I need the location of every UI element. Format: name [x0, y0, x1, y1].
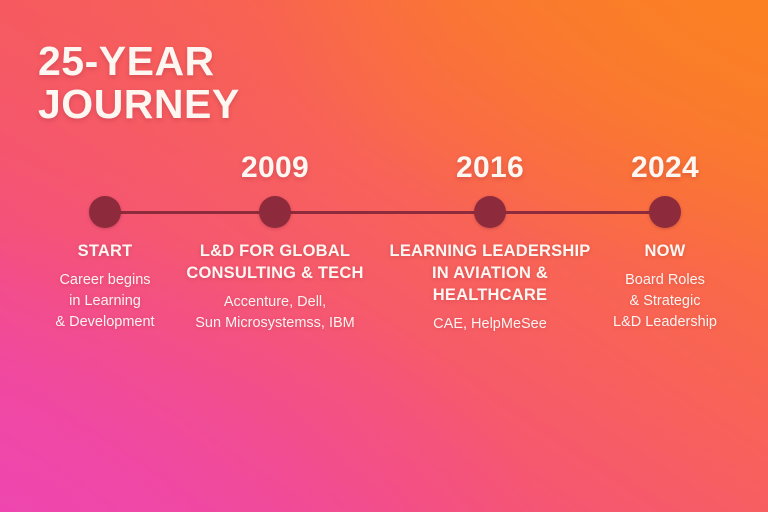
milestone-label-2009: L&D FOR GLOBALCONSULTING & TECH [170, 240, 380, 284]
milestone-detail-2024: Board Roles& StrategicL&D Leadership [560, 270, 768, 333]
milestone-detail-line: & Strategic [560, 291, 768, 312]
milestone-label-2024: NOW [560, 240, 768, 262]
page-title: 25-YEAR JOURNEY [38, 40, 240, 126]
title-line-2: JOURNEY [38, 83, 240, 126]
timeline-node-dot-2024[interactable] [649, 196, 681, 228]
milestone-label-line: CONSULTING & TECH [170, 262, 380, 284]
title-line-1: 25-YEAR [38, 40, 240, 83]
milestone-label-line: NOW [560, 240, 768, 262]
timeline-infographic: 25-YEAR JOURNEY STARTCareer beginsin Lea… [0, 0, 768, 512]
milestone-detail-line: Sun Microsystemss, IBM [170, 313, 380, 334]
timeline-node-dot-2009[interactable] [259, 196, 291, 228]
timeline-rail [105, 211, 665, 214]
milestone-detail-line: Board Roles [560, 270, 768, 291]
milestone-detail-2009: Accenture, Dell,Sun Microsystemss, IBM [170, 292, 380, 334]
timeline-node-dot-2016[interactable] [474, 196, 506, 228]
milestone-year-2009: 2009 [170, 152, 380, 184]
milestone-label-line: L&D FOR GLOBAL [170, 240, 380, 262]
milestone-year-2024: 2024 [560, 152, 768, 184]
milestone-detail-line: Accenture, Dell, [170, 292, 380, 313]
milestone-detail-line: L&D Leadership [560, 312, 768, 333]
timeline-node-dot-start[interactable] [89, 196, 121, 228]
